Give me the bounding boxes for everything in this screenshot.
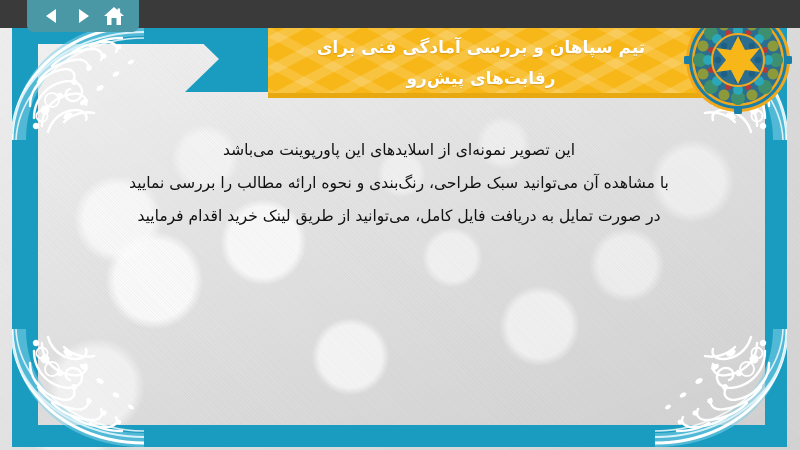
- frame-inner-area: [38, 44, 765, 425]
- back-button[interactable]: [40, 4, 64, 28]
- teal-ribbon-tail: [185, 26, 271, 92]
- forward-button[interactable]: [71, 4, 95, 28]
- slide-body-text: این تصویر نمونه‌ای از اسلایدهای این پاور…: [40, 134, 758, 233]
- banner-bottom-edge: [268, 93, 728, 98]
- slide-viewer: این تصویر نمونه‌ای از اسلایدهای این پاور…: [0, 0, 800, 450]
- body-line-3: در صورت تمایل به دریافت فایل کامل، می‌تو…: [40, 200, 758, 233]
- body-line-1: این تصویر نمونه‌ای از اسلایدهای این پاور…: [40, 134, 758, 167]
- navigation-toolbar: [27, 0, 139, 32]
- home-button[interactable]: [102, 4, 126, 28]
- body-line-2: با مشاهده آن می‌توانید سبک طراحی، رنگ‌بن…: [40, 167, 758, 200]
